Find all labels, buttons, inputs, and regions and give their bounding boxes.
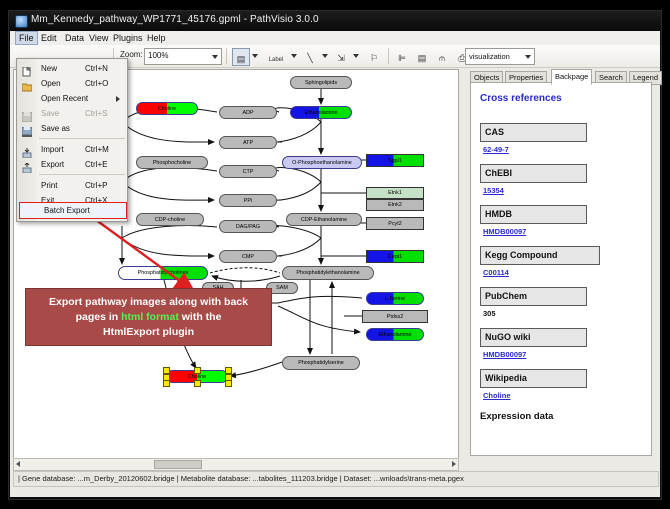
annotation-line-1: Export pathway images along with back <box>49 296 248 308</box>
menu-item-open-recent[interactable]: Open Recent <box>17 91 127 106</box>
menu-view[interactable]: View <box>86 32 111 44</box>
pathvisio-app-icon <box>15 15 28 28</box>
save-disk-icon <box>22 109 32 119</box>
pathway-node-adp[interactable]: ADP <box>219 106 277 119</box>
label-dropdown-arrow[interactable] <box>291 54 297 58</box>
pathway-node-cdp_ethanol[interactable]: CDP-Ethanolamine <box>286 213 362 226</box>
zoom-combobox[interactable]: 100% <box>144 48 222 65</box>
align-left-tool-button[interactable]: ⊫ <box>394 48 410 64</box>
pathway-node-label: CMP <box>220 254 276 260</box>
pathway-node-label: DAG/PAG <box>220 224 276 230</box>
window-title: Mm_Kennedy_pathway_WP1771_45176.gpml - P… <box>31 14 319 25</box>
label-icon: Label <box>269 57 284 63</box>
pathway-node-label: Phosphatidylethanolamine <box>283 270 373 276</box>
pathway-node-label: Choline <box>137 106 197 112</box>
tab-backpage[interactable]: Backpage <box>551 69 592 85</box>
pathway-node-label: Sphingolipids <box>291 80 351 86</box>
cross-references-title: Cross references <box>480 93 562 104</box>
pathway-node-ethanolamine_t[interactable]: Ethanolamine <box>290 106 352 119</box>
new-document-icon <box>22 64 32 74</box>
pathway-node-etnk1[interactable]: Etnk1 <box>366 187 424 199</box>
xref-header-nugo: NuGO wiki <box>480 328 587 347</box>
pathway-node-ctp[interactable]: CTP <box>219 165 277 178</box>
menu-bar: File Edit Data View Plugins Help <box>10 31 660 46</box>
pathway-node-label: L-Serine <box>367 296 423 302</box>
pathway-node-label: ADP <box>220 110 276 116</box>
menu-item-print[interactable]: Print Ctrl+P <box>17 178 127 193</box>
selection-handle[interactable] <box>194 380 201 387</box>
pathway-node-label: Cept1 <box>367 254 423 260</box>
pathway-node-ptdethanol[interactable]: Phosphatidylethanolamine <box>282 266 374 280</box>
distribute-icon: ⫙ <box>439 53 445 63</box>
datanode-icon: ▤ <box>237 54 246 64</box>
pathway-node-cdp_choline[interactable]: CDP-choline <box>136 213 204 226</box>
pathway-node-label: ATP <box>220 140 276 146</box>
xref-header-cas: CAS <box>480 123 587 142</box>
pathway-node-label: Ptdss2 <box>363 314 427 320</box>
pathway-node-label: Choline <box>167 374 227 380</box>
datanode-tool-button[interactable]: ▤ <box>232 48 250 66</box>
anchor-tool-button[interactable]: ⚐ <box>366 48 382 64</box>
pathway-node-label: Ethanolamine <box>291 110 351 116</box>
side-panel: Objects Properties Backpage Search Legen… <box>462 69 658 457</box>
menu-item-import[interactable]: Import Ctrl+M <box>17 142 127 157</box>
distribute-tool-button[interactable]: ⫙ <box>434 48 450 64</box>
line-tool-button[interactable]: ╲ <box>302 48 318 64</box>
file-menu-dropdown[interactable]: New Ctrl+N Open Ctrl+O Open Recent Save <box>16 58 128 222</box>
anchor-icon: ⚐ <box>370 53 378 63</box>
interaction-dropdown-arrow[interactable] <box>353 54 359 58</box>
pathway-node-atp[interactable]: ATP <box>219 136 277 149</box>
toolbar-separator <box>226 48 227 64</box>
xref-value-kegg[interactable]: C00114 <box>483 268 509 277</box>
pathway-node-ptdss2[interactable]: Ptdss2 <box>362 310 428 323</box>
canvas-hscrollbar[interactable] <box>13 458 459 471</box>
title-bar: Mm_Kennedy_pathway_WP1771_45176.gpml - P… <box>9 11 661 31</box>
selection-handle[interactable] <box>194 367 201 374</box>
pathway-node-label: O-Phosphoethanolamine <box>283 160 361 166</box>
menu-plugins[interactable]: Plugins <box>110 32 146 44</box>
pathway-node-label: Ethanolamine <box>367 332 423 338</box>
align-left-icon: ⊫ <box>398 53 406 63</box>
xref-value-hmdb[interactable]: HMDB00097 <box>483 227 526 236</box>
pathvisio-window: Mm_Kennedy_pathway_WP1771_45176.gpml - P… <box>8 10 662 500</box>
annotation-line-3: HtmlExport plugin <box>103 326 194 338</box>
annotation-highlight: html format <box>121 311 179 323</box>
pathway-node-phosphocholine[interactable]: Phosphocholine <box>136 156 208 169</box>
toolbar-separator <box>388 48 389 64</box>
pathway-node-etnk2[interactable]: Etnk2 <box>366 199 424 211</box>
menu-data[interactable]: Data <box>62 32 87 44</box>
menu-item-save: Save Ctrl+S <box>17 106 127 121</box>
pathway-node-label: CDP-Ethanolamine <box>287 217 361 223</box>
pathway-node-ophosphoeth[interactable]: O-Phosphoethanolamine <box>282 156 362 169</box>
expression-data-title: Expression data <box>480 411 553 422</box>
pathway-node-label: PPi <box>220 198 276 204</box>
pathway-node-ptdcholines[interactable]: Phosphatidylcholines <box>118 266 208 280</box>
line-icon: ╲ <box>307 53 312 63</box>
menu-separator <box>39 138 125 139</box>
chevron-right-icon <box>116 96 120 102</box>
import-icon <box>22 145 32 155</box>
visualization-combobox[interactable]: visualization <box>465 48 535 65</box>
status-bar: | Gene database: ...m_Derby_20120602.bri… <box>13 471 659 487</box>
interaction-tool-button[interactable]: ⇲ <box>333 48 349 64</box>
annotation-callout: Export pathway images along with back pa… <box>25 288 272 346</box>
pathway-node-label: Etnk2 <box>367 202 423 208</box>
pathway-node-label: Phosphocholine <box>137 160 207 166</box>
xref-header-pubchem: PubChem <box>480 287 587 306</box>
xref-value-nugo[interactable]: HMDB00097 <box>483 350 526 359</box>
chevron-down-icon <box>525 55 531 59</box>
menu-edit[interactable]: Edit <box>38 32 60 44</box>
open-folder-icon <box>22 79 32 89</box>
xref-header-hmdb: HMDB <box>480 205 587 224</box>
pathway-node-ptdserine[interactable]: Phosphatidylserine <box>282 356 360 370</box>
datanode-dropdown-arrow[interactable] <box>252 54 258 58</box>
xref-header-chebi: ChEBI <box>480 164 587 183</box>
pathway-node-label: Pcyt2 <box>367 221 423 227</box>
xref-header-wikipedia: Wikipedia <box>480 369 587 388</box>
pathway-node-label: Etnk1 <box>367 190 423 196</box>
chevron-down-icon <box>212 55 218 59</box>
pathway-node-dagpag[interactable]: DAG/PAG <box>219 220 277 233</box>
line-dropdown-arrow[interactable] <box>322 54 328 58</box>
pathway-node-label: Phosphatidylcholines <box>119 270 207 276</box>
pathway-node-label: Sgpl1 <box>367 158 423 164</box>
pathway-node-label: CDP-choline <box>137 217 203 223</box>
menu-item-export[interactable]: Export Ctrl+E <box>17 157 127 172</box>
zoom-value: 100% <box>148 51 168 60</box>
pathway-node-ethanolamine_b[interactable]: Ethanolamine <box>366 328 424 341</box>
pathway-node-sgpl1[interactable]: Sgpl1 <box>366 154 424 167</box>
side-panel-tabs: Objects Properties Backpage Search Legen… <box>470 69 658 83</box>
menu-file[interactable]: File <box>15 31 38 45</box>
selection-handle[interactable] <box>225 380 232 387</box>
pathway-node-cmp[interactable]: CMP <box>219 250 277 263</box>
menu-separator <box>39 174 125 175</box>
status-text: | Gene database: ...m_Derby_20120602.bri… <box>18 474 464 483</box>
align-stack-tool-button[interactable]: ▤ <box>414 48 430 64</box>
screenshot-frame: Mm_Kennedy_pathway_WP1771_45176.gpml - P… <box>0 0 670 509</box>
menu-help[interactable]: Help <box>144 32 169 44</box>
annotation-line-2-pre: pages in <box>76 311 122 323</box>
hscroll-thumb[interactable] <box>154 460 202 469</box>
label-tool-button[interactable]: Label <box>264 48 288 64</box>
xref-header-kegg: Kegg Compound <box>480 246 600 265</box>
menu-item-new[interactable]: New Ctrl+N <box>17 61 127 76</box>
pathway-node-ppi[interactable]: PPi <box>219 194 277 207</box>
menu-item-save-as[interactable]: Save as <box>17 121 127 136</box>
selection-handle[interactable] <box>163 380 170 387</box>
menu-item-open[interactable]: Open Ctrl+O <box>17 76 127 91</box>
xref-value-wikipedia[interactable]: Choline <box>483 391 511 400</box>
menu-item-batch-export[interactable]: Batch Export <box>19 202 127 219</box>
xref-value-pubchem: 305 <box>483 309 496 318</box>
application-body: File Edit Data View Plugins Help Zoom: 1… <box>10 31 660 497</box>
xref-value-cas[interactable]: 62-49-7 <box>483 145 509 154</box>
visualization-value: visualization <box>469 52 510 61</box>
pathway-node-label: Phosphatidylserine <box>283 360 359 366</box>
pathway-node-label: CTP <box>220 169 276 175</box>
backpage-content[interactable]: Cross references CAS 62-49-7 ChEBI 15354… <box>470 82 652 456</box>
annotation-text: Export pathway images along with back pa… <box>32 295 265 340</box>
align-stack-icon: ▤ <box>418 53 427 63</box>
pathway-node-cept1[interactable]: Cept1 <box>366 250 424 263</box>
pathway-node-pcyt2[interactable]: Pcyt2 <box>366 217 424 230</box>
pathway-node-choline_top[interactable]: Choline <box>136 102 198 115</box>
annotation-line-2-post: with the <box>179 311 222 323</box>
interaction-icon: ⇲ <box>337 53 345 63</box>
scroll-left-arrow[interactable] <box>16 461 20 467</box>
scroll-right-arrow[interactable] <box>452 461 456 467</box>
save-as-icon <box>22 124 32 134</box>
pathway-node-sphingolipids[interactable]: Sphingolipids <box>290 76 352 89</box>
export-icon <box>22 160 32 170</box>
pathway-node-l_serine[interactable]: L-Serine <box>366 292 424 305</box>
xref-value-chebi[interactable]: 15354 <box>483 186 504 195</box>
